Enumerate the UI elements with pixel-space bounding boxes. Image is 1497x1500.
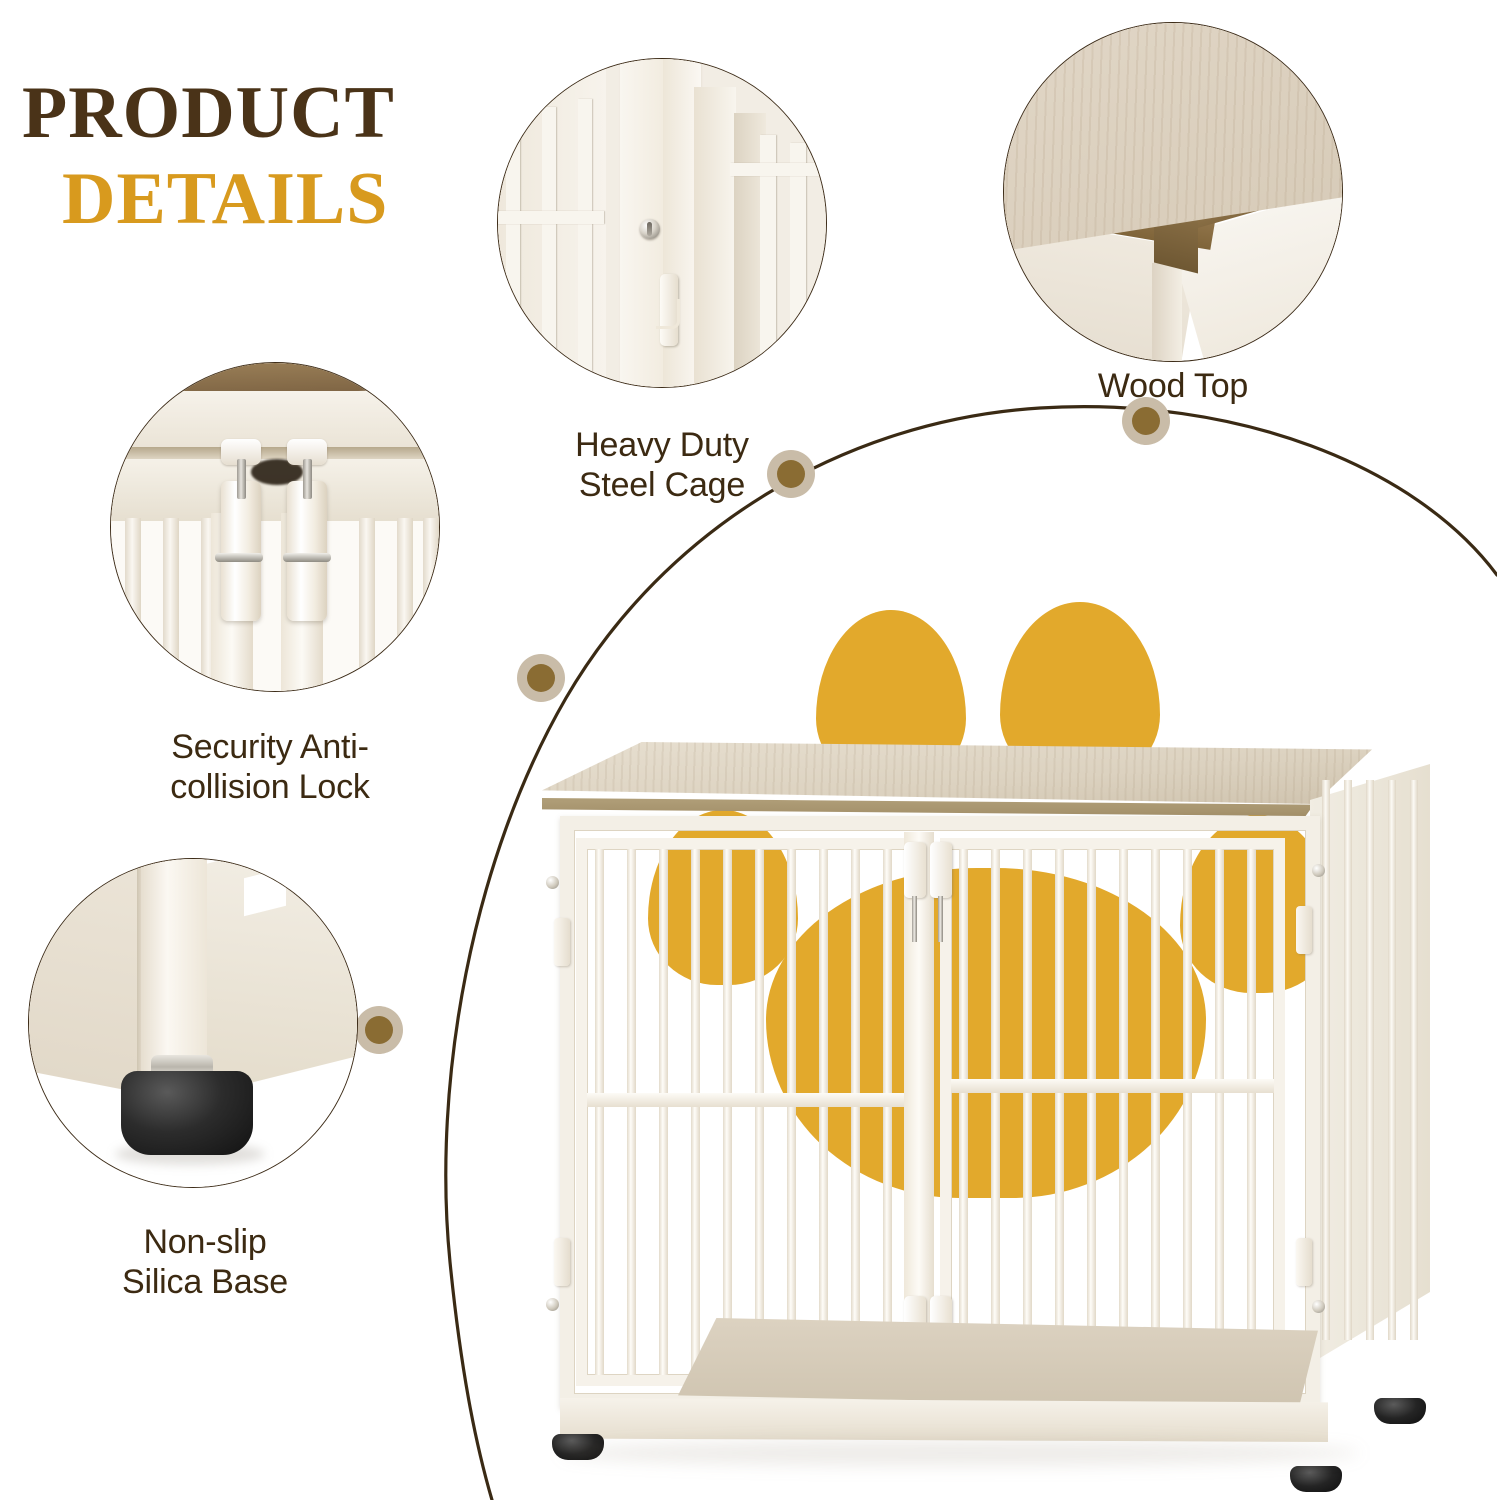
page-title: PRODUCT DETAILS [22, 78, 462, 236]
silica-base-photo [28, 858, 358, 1188]
latch-top-right[interactable] [930, 842, 952, 898]
wood-top-caption: Wood Top [1008, 366, 1338, 406]
crate-floor-tray [678, 1318, 1318, 1408]
steel-cage-caption-line1: Heavy Duty [487, 425, 837, 465]
infographic-canvas: PRODUCT DETAILS Heavy Duty St [0, 0, 1497, 1500]
bolt-right [287, 481, 327, 621]
hinge-right-top [1296, 906, 1312, 954]
crate-door-left[interactable] [576, 838, 921, 1386]
screw-icon [640, 219, 660, 239]
title-line-product: PRODUCT [22, 78, 462, 150]
wood-top-caption-line1: Wood Top [1008, 366, 1338, 406]
hinge-right-bottom [1296, 1238, 1312, 1286]
steel-cage-caption-line2: Steel Cage [487, 465, 837, 505]
bolt-left [221, 481, 261, 621]
connector-dot-base [355, 1006, 403, 1054]
base-caption-line2: Silica Base [40, 1262, 370, 1302]
steel-cage-photo [497, 58, 827, 388]
lock-caption-line2: collision Lock [95, 767, 445, 807]
silica-base-caption: Non-slip Silica Base [40, 1222, 370, 1302]
steel-cage-caption: Heavy Duty Steel Cage [487, 425, 837, 505]
silica-foot [121, 1071, 253, 1155]
product-hero-image [520, 600, 1480, 1500]
crate-base-rail [560, 1398, 1328, 1442]
dog-crate [520, 600, 1480, 1500]
latch-top-left[interactable] [904, 842, 926, 898]
crate-wood-top [542, 742, 1372, 804]
hinge-left-bottom [554, 1238, 570, 1286]
hinge-left-top [554, 918, 570, 966]
crate-foot-back-right [1374, 1398, 1426, 1424]
crate-side-bars [1316, 780, 1428, 1340]
base-caption-line1: Non-slip [40, 1222, 370, 1262]
crate-door-right[interactable] [940, 838, 1285, 1386]
security-lock-caption: Security Anti- collision Lock [95, 727, 445, 807]
wood-top-photo [1003, 22, 1343, 362]
security-lock-photo [110, 362, 440, 692]
lock-caption-line1: Security Anti- [95, 727, 445, 767]
crate-foot-front-right [1290, 1466, 1342, 1492]
title-line-details: DETAILS [62, 162, 462, 236]
